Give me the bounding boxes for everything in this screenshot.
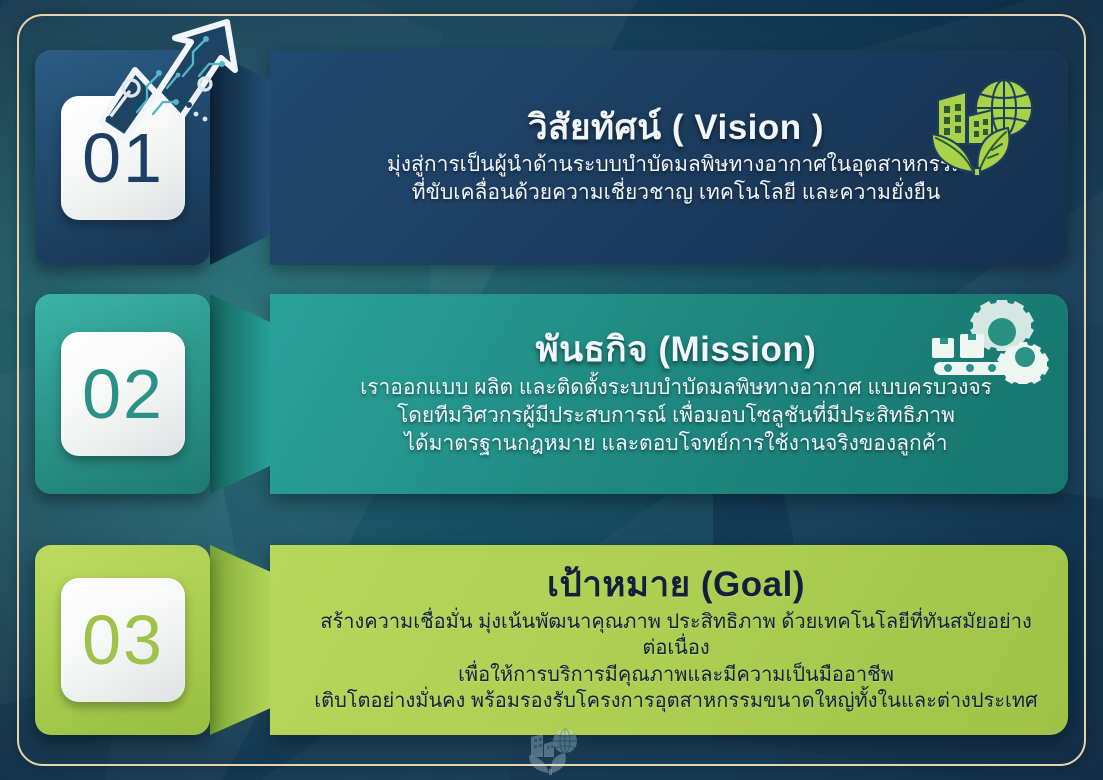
card-mission-line-2: โดยทีมวิศวกรผู้มีประสบการณ์ เพื่อมอบโซลู… bbox=[397, 402, 955, 430]
card-mission-line-1: เราออกแบบ ผลิต และติดตั้งระบบบำบัดมลพิษท… bbox=[360, 374, 992, 402]
card-mission-banner: พันธกิจ (Mission) เราออกแบบ ผลิต และติดต… bbox=[270, 294, 1068, 494]
card-mission: พันธกิจ (Mission) เราออกแบบ ผลิต และติดต… bbox=[35, 294, 1068, 494]
card-mission-line-3: ได้มาตรฐานกฎหมาย และตอบโจทย์การใช้งานจริ… bbox=[404, 430, 947, 458]
card-mission-title: พันธกิจ (Mission) bbox=[536, 328, 817, 372]
card-mission-number: 02 bbox=[82, 359, 164, 429]
card-goal-line-1: สร้างความเชื่อมั่น มุ่งเน้นพัฒนาคุณภาพ ป… bbox=[310, 609, 1042, 662]
card-vision-line-1: มุ่งสู่การเป็นผู้นำด้านระบบบำบัดมลพิษทาง… bbox=[387, 151, 965, 179]
card-goal-line-2: เพื่อให้การบริการมีคุณภาพและมีความเป็นมื… bbox=[458, 662, 894, 689]
card-goal-number-tile: 03 bbox=[61, 578, 185, 702]
card-vision-fold bbox=[210, 50, 270, 265]
card-goal-line-3: เติบโตอย่างมั่นคง พร้อมรองรับโครงการอุตส… bbox=[314, 688, 1037, 715]
card-mission-fold bbox=[210, 294, 270, 494]
card-mission-number-tile: 02 bbox=[61, 332, 185, 456]
card-goal-number: 03 bbox=[82, 605, 164, 675]
card-vision-number: 01 bbox=[82, 123, 164, 193]
card-vision-number-tile: 01 bbox=[61, 96, 185, 220]
infographic-canvas: วิสัยทัศน์ ( Vision ) มุ่งสู่การเป็นผู้น… bbox=[0, 0, 1103, 780]
card-goal-banner: เป้าหมาย (Goal) สร้างความเชื่อมั่น มุ่งเ… bbox=[270, 545, 1068, 735]
card-vision-title: วิสัยทัศน์ ( Vision ) bbox=[528, 106, 824, 150]
card-goal: เป้าหมาย (Goal) สร้างความเชื่อมั่น มุ่งเ… bbox=[35, 545, 1068, 735]
eco-city-watermark-logo bbox=[521, 725, 583, 775]
card-goal-fold bbox=[210, 545, 270, 735]
card-vision-line-2: ที่ขับเคลื่อนด้วยความเชี่ยวชาญ เทคโนโลยี… bbox=[412, 179, 940, 207]
card-vision-banner: วิสัยทัศน์ ( Vision ) มุ่งสู่การเป็นผู้น… bbox=[270, 50, 1068, 265]
card-goal-title: เป้าหมาย (Goal) bbox=[547, 563, 805, 607]
card-vision: วิสัยทัศน์ ( Vision ) มุ่งสู่การเป็นผู้น… bbox=[35, 50, 1068, 265]
